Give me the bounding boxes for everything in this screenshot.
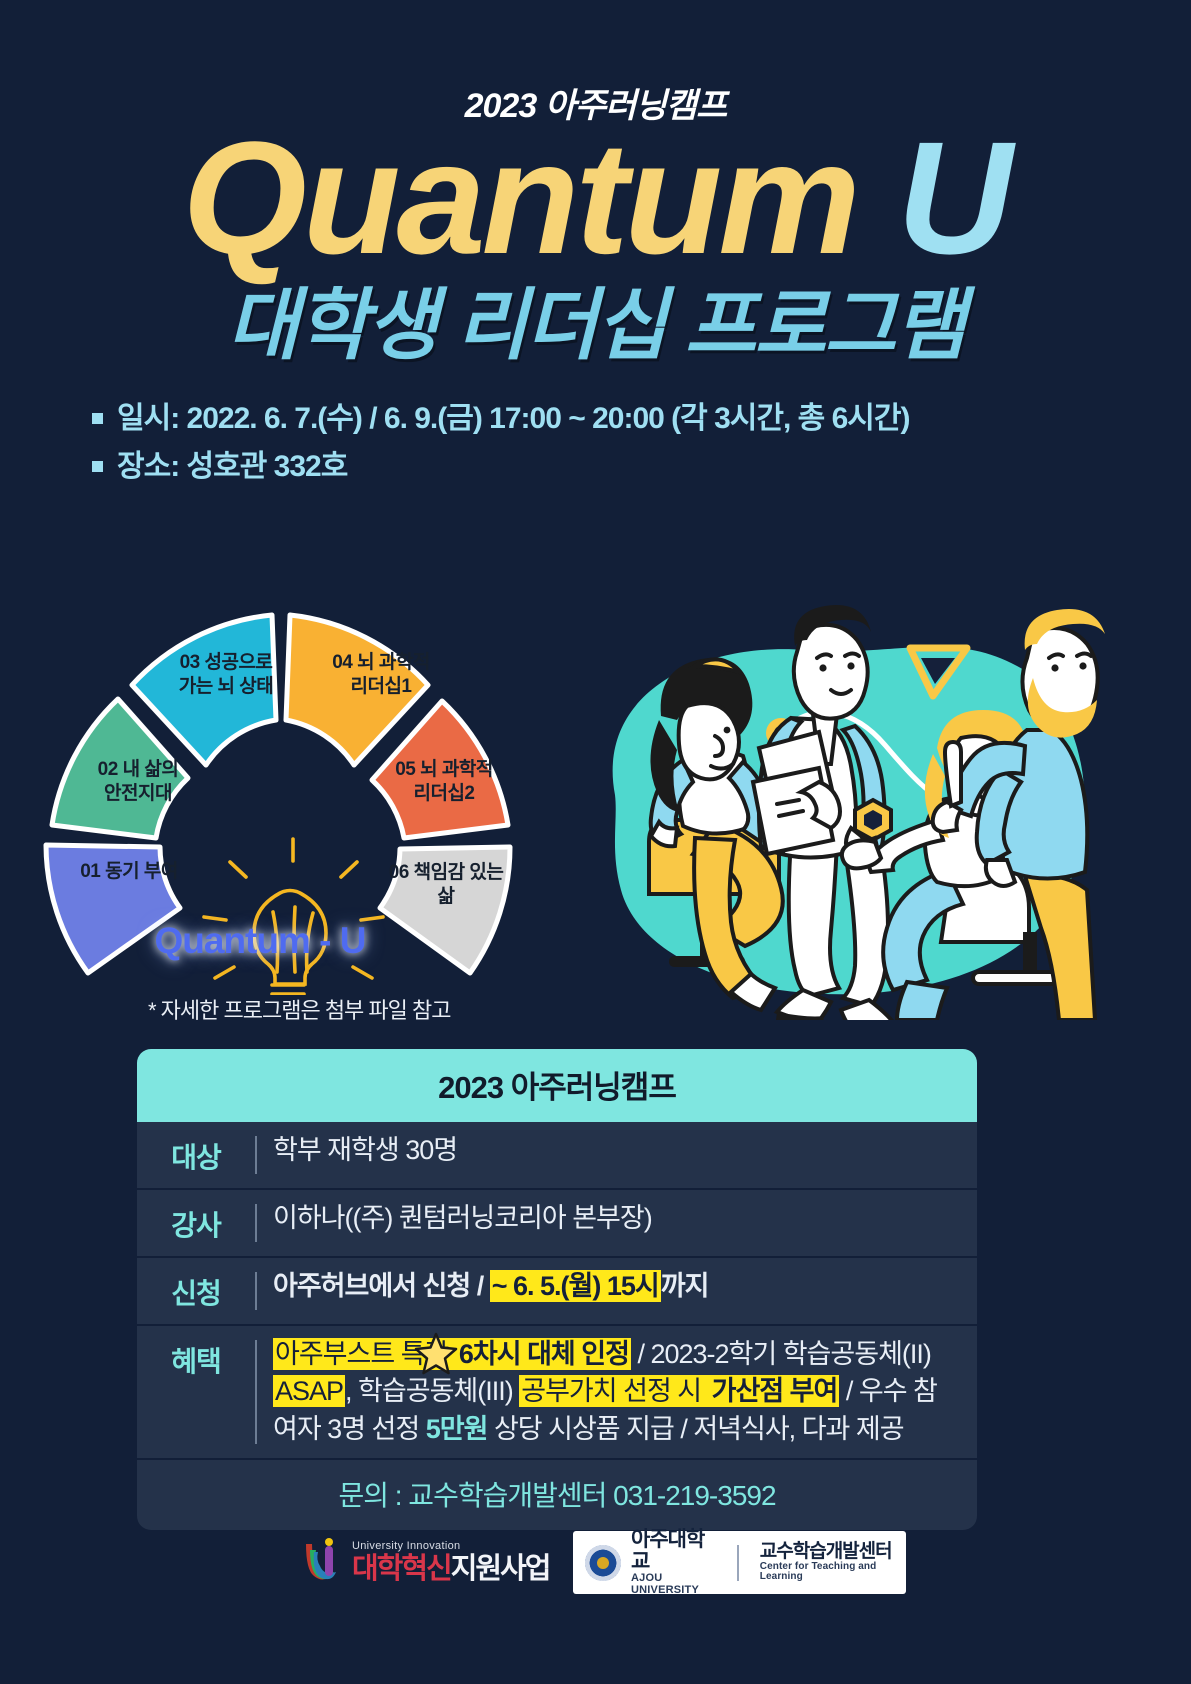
ctl-name-block: 교수학습개발센터 Center for Teaching and Learnin… xyxy=(760,1542,894,1583)
illustration-svg xyxy=(555,570,1115,1020)
square-bullet-icon xyxy=(92,461,103,472)
ajou-name-block: 아주대학교 AJOU UNIVERSITY xyxy=(631,1529,716,1596)
event-info-block: 일시: 2022. 6. 7.(수) / 6. 9.(금) 17:00 ~ 20… xyxy=(92,397,1102,492)
table-row-divider xyxy=(255,1204,257,1242)
ui-logo-kor-white: 지원사업 xyxy=(451,1553,550,1585)
table-row: 강사 이하나((주) 퀀텀러닝코리아 본부장) xyxy=(137,1190,977,1258)
ui-logo-eng: University Innovation xyxy=(352,1541,549,1552)
ajou-emblem-icon xyxy=(585,1545,621,1581)
value-segment-highlight: 공부가치 선정 시 xyxy=(519,1375,709,1407)
value-segment: 아주허브에서 신청 / xyxy=(273,1271,490,1301)
info-line-date-text: 일시: 2022. 6. 7.(수) / 6. 9.(금) 17:00 ~ 20… xyxy=(117,397,909,441)
value-segment: 이하나((주) 퀀텀러닝코리아 본부장) xyxy=(273,1203,652,1233)
table-row: 대상 학부 재학생 30명 xyxy=(137,1122,977,1190)
table-row-key: 신청 xyxy=(137,1268,255,1312)
value-segment-highlight: ASAP xyxy=(273,1375,345,1407)
table-row: 신청 아주허브에서 신청 / ~ 6. 5.(월) 15시까지 xyxy=(137,1258,977,1326)
star-icon xyxy=(414,1332,458,1376)
ctl-eng: Center for Teaching and Learning xyxy=(760,1562,894,1583)
value-segment: 학부 재학생 30명 xyxy=(273,1135,457,1165)
value-segment-accent: 5만원 xyxy=(426,1414,488,1444)
ui-mark-icon xyxy=(300,1538,344,1586)
table-row-divider xyxy=(255,1340,257,1444)
table-row-divider xyxy=(255,1136,257,1174)
table-contact-footer: 문의 : 교수학습개발센터 031-219-3592 xyxy=(137,1460,977,1530)
ctl-kor: 교수학습개발센터 xyxy=(760,1542,894,1562)
table-row-value: 아주부스트 특강 6차시 대체 인정 / 2023-2학기 학습공동체(II) … xyxy=(273,1336,977,1448)
page-title: Quantum U xyxy=(0,118,1191,278)
program-note: * 자세한 프로그램은 첨부 파일 참고 xyxy=(148,993,450,1025)
ajou-kor: 아주대학교 xyxy=(631,1529,716,1573)
value-segment-highlight: ~ 6. 5.(월) 15시 xyxy=(490,1270,661,1302)
poster-root: 2023 아주러닝캠프 Quantum U 대학생 리더십 프로그램 일시: 2… xyxy=(0,0,1191,1684)
table-row: 혜택 아주부스트 특강 6차시 대체 인정 / 2023-2학기 학습공동체(I… xyxy=(137,1326,977,1460)
value-segment-highlight: 가산점 부여 xyxy=(710,1375,840,1407)
university-innovation-logo: University Innovation 대학혁신지원사업 xyxy=(300,1538,549,1586)
title-main: Quantum xyxy=(182,108,856,287)
students-illustration xyxy=(555,570,1115,1020)
info-line-place-text: 장소: 성호관 332호 xyxy=(117,445,347,489)
title-accent: U xyxy=(897,108,1009,287)
value-segment: / 2023-2학기 학습공동체(II) xyxy=(631,1339,931,1369)
info-line-date: 일시: 2022. 6. 7.(수) / 6. 9.(금) 17:00 ~ 20… xyxy=(92,397,1102,441)
info-line-place: 장소: 성호관 332호 xyxy=(92,445,1102,489)
table-row-value: 학부 재학생 30명 xyxy=(273,1132,977,1169)
table-title-year: 2023 xyxy=(438,1070,503,1105)
lightbulb-icon xyxy=(204,839,383,995)
table-row-value: 아주허브에서 신청 / ~ 6. 5.(월) 15시까지 xyxy=(273,1268,977,1305)
value-segment: , 학습공동체(III) xyxy=(345,1376,519,1406)
poster-subtitle: 대학생 리더십 프로그램 xyxy=(0,286,1191,364)
table-title: 2023 아주러닝캠프 xyxy=(137,1049,977,1122)
table-row-divider xyxy=(255,1272,257,1310)
wheel-brand-label: Quantum - U xyxy=(0,920,520,962)
ajou-eng: AJOU UNIVERSITY xyxy=(631,1573,716,1596)
value-segment-highlight: 6차시 대체 인정 xyxy=(457,1338,631,1370)
square-bullet-icon xyxy=(92,413,103,424)
table-row-key: 혜택 xyxy=(137,1336,255,1380)
details-table: 2023 아주러닝캠프 대상 학부 재학생 30명 강사 이하나((주) 퀀텀러… xyxy=(137,1049,977,1530)
table-row-key: 강사 xyxy=(137,1200,255,1244)
value-segment: 까지 xyxy=(661,1271,709,1301)
ui-logo-kor-red: 대학혁신 xyxy=(352,1553,451,1585)
table-title-rest: 아주러닝캠프 xyxy=(503,1070,676,1105)
logo-divider xyxy=(737,1545,739,1581)
table-row-value: 이하나((주) 퀀텀러닝코리아 본부장) xyxy=(273,1200,977,1237)
value-segment: 상당 시상품 지급 / 저녁식사, 다과 제공 xyxy=(487,1414,903,1444)
table-row-key: 대상 xyxy=(137,1132,255,1176)
ajou-university-logo: 아주대학교 AJOU UNIVERSITY 교수학습개발센터 Center fo… xyxy=(573,1531,906,1594)
